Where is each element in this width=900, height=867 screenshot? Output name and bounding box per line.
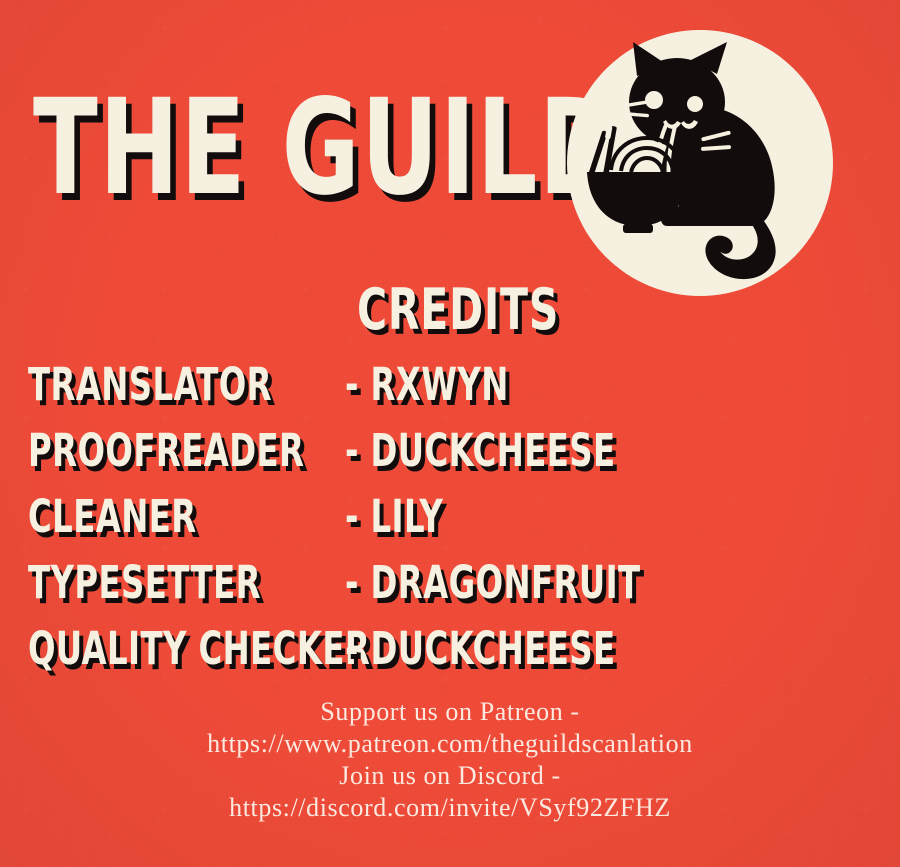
credit-role: CLEANER — [28, 494, 197, 539]
credit-name: - DUCKCHEESE — [345, 428, 616, 473]
credits-heading: CREDITS — [357, 282, 559, 339]
credit-row: TYPESETTER - DRAGONFRUIT — [0, 560, 900, 626]
footer-links: Support us on Patreon - https://www.patr… — [0, 696, 900, 824]
credit-name: - LILY — [345, 494, 443, 539]
credit-name: - RXWYN — [345, 362, 509, 407]
credit-row: TRANSLATOR - RXWYN — [0, 362, 900, 428]
discord-url[interactable]: https://discord.com/invite/VSyf92ZFHZ — [0, 792, 900, 824]
patreon-url[interactable]: https://www.patreon.com/theguildscanlati… — [0, 728, 900, 760]
credit-role: TRANSLATOR — [28, 362, 272, 407]
credit-role: QUALITY CHECKER — [28, 626, 370, 671]
discord-label: Join us on Discord - — [0, 760, 900, 792]
credit-role: TYPESETTER — [28, 560, 261, 605]
credit-name: - DRAGONFRUIT — [345, 560, 641, 605]
patreon-label: Support us on Patreon - — [0, 696, 900, 728]
credit-row: CLEANER - LILY — [0, 494, 900, 560]
credit-name: - DUCKCHEESE — [345, 626, 616, 671]
credits-list: TRANSLATOR - RXWYN PROOFREADER - DUCKCHE… — [0, 362, 900, 692]
page-title: THE GUILD — [33, 82, 620, 214]
cat-eating-ramen-icon — [567, 30, 833, 296]
credit-role: PROOFREADER — [28, 428, 304, 473]
credit-row: QUALITY CHECKER - DUCKCHEESE — [0, 626, 900, 692]
credits-page: THE GUILD — [0, 0, 900, 867]
credit-row: PROOFREADER - DUCKCHEESE — [0, 428, 900, 494]
